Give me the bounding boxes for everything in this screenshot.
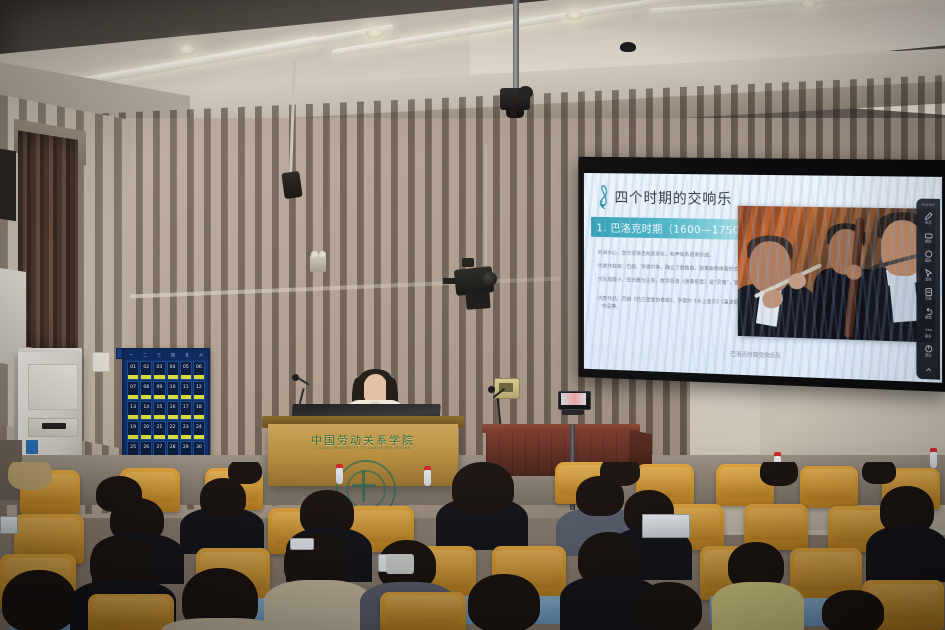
pocket-chart-cell: 18 xyxy=(193,401,205,420)
pocket-chart-number: 28 xyxy=(170,445,176,450)
pocket-chart-pocket-lip xyxy=(141,395,151,399)
pocket-chart-pocket-lip xyxy=(128,435,138,439)
slide-bullet: · 时间中心，音乐逐渐走向复杂化，和声体系逐渐形成。 xyxy=(595,249,714,258)
ceiling-downlight xyxy=(566,10,583,20)
pocket-chart-cell: 19 xyxy=(127,421,139,440)
air-conditioner-panel xyxy=(28,364,78,410)
ceiling-downlight xyxy=(366,28,383,38)
pocket-chart-number: 07 xyxy=(130,385,136,390)
toolbar-label: 页面 xyxy=(925,296,932,300)
pocket-chart-cell: 17 xyxy=(180,401,192,420)
page-icon[interactable]: 页面 xyxy=(917,285,939,304)
pocket-chart-pocket-lip xyxy=(168,435,178,439)
pocket-chart-number: 04 xyxy=(170,365,176,370)
photo-caption: 巴洛克时期交响乐队 xyxy=(730,349,781,360)
pocket-chart-number: 05 xyxy=(183,365,189,370)
pocket-chart-pocket-lip xyxy=(141,435,151,439)
pocket-chart-cell: 03 xyxy=(153,361,165,380)
pocket-chart-cell: 24 xyxy=(193,421,205,440)
toolbar-label: 选择 xyxy=(925,277,932,281)
slide-title: 四个时期的交响乐 xyxy=(615,187,733,209)
pocket-chart-number: 26 xyxy=(143,445,149,450)
pocket-chart-number: 10 xyxy=(170,385,176,390)
pocket-chart-cell: 09 xyxy=(153,381,165,400)
toolbar-label: 撤销 xyxy=(925,315,932,319)
pocket-chart-number: 01 xyxy=(130,365,136,370)
pocket-chart-pocket-lip xyxy=(128,375,138,379)
pocket-chart-pocket-lip xyxy=(154,435,164,439)
more-icon[interactable]: 更多 xyxy=(917,323,939,342)
auditorium-chair[interactable] xyxy=(800,466,858,508)
pocket-chart-cell: 23 xyxy=(180,421,192,440)
pocket-chart-cell: 20 xyxy=(140,421,152,440)
pocket-chart-cell: 15 xyxy=(153,401,165,420)
toolbar-label: 更多 xyxy=(925,334,932,338)
toolbar-label: 擦除 xyxy=(925,239,932,243)
pocket-chart-number: 24 xyxy=(196,425,202,430)
pocket-chart-number: 25 xyxy=(130,445,136,450)
pocket-chart-number: 23 xyxy=(183,425,189,430)
audience-laptop[interactable] xyxy=(0,516,18,534)
audience-head xyxy=(2,570,76,630)
orchestra-photo xyxy=(738,206,935,343)
pocket-chart-header-cell: 四 xyxy=(171,353,175,358)
slide-section-label: 1. 巴洛克时期（1600—1750） xyxy=(596,220,750,238)
collapse-icon[interactable] xyxy=(917,361,939,380)
pocket-chart-pocket-lip xyxy=(128,415,138,419)
wall-dark-panel xyxy=(0,149,16,222)
pocket-chart-pocket-lip xyxy=(154,415,164,419)
audience-shoulders xyxy=(866,526,945,582)
audience-laptop[interactable] xyxy=(642,514,690,538)
slide-bullet-continued: 作品等。 xyxy=(602,303,621,310)
hanging-microphone-icon xyxy=(281,171,302,199)
whiteboard-toolbar[interactable]: seewo 批注 擦除 图形 选择 xyxy=(916,199,940,380)
audience-shoulders xyxy=(712,582,804,630)
audience-phone[interactable] xyxy=(290,538,314,550)
pocket-chart-number: 14 xyxy=(143,405,149,410)
audience-shoulders xyxy=(162,618,280,630)
pocket-chart-cell: 07 xyxy=(127,381,139,400)
slide-bullet: · 代表作曲家：巴赫、亨德尔等，确立了赋格曲、协奏曲等体裁形式。 xyxy=(595,263,744,273)
pocket-chart-pocket-lip xyxy=(141,375,151,379)
pocket-chart-cell: 04 xyxy=(167,361,179,380)
audience-jacket xyxy=(386,554,414,574)
pocket-chart-number: 03 xyxy=(156,365,162,370)
pocket-chart-number: 16 xyxy=(170,405,176,410)
pocket-chart-number: 29 xyxy=(183,445,189,450)
pocket-chart-cell: 02 xyxy=(140,361,152,380)
audience-head xyxy=(760,462,798,486)
pocket-chart-number: 06 xyxy=(196,365,202,370)
emergency-light-lamp xyxy=(311,251,318,257)
power-icon[interactable]: 退出 xyxy=(917,342,939,361)
pocket-chart-pocket-lip xyxy=(181,435,191,439)
pocket-chart-number: 09 xyxy=(156,385,162,390)
camera-top-handle xyxy=(462,258,474,267)
pocket-chart-pocket-lip xyxy=(168,395,178,399)
camera-body-lower xyxy=(465,291,490,310)
emergency-light-icon xyxy=(310,255,326,272)
pocket-chart-pocket-lip xyxy=(154,375,164,379)
audience-shoulders xyxy=(264,580,372,630)
audience-seating xyxy=(0,462,945,630)
undo-icon[interactable]: 撤销 xyxy=(917,304,939,323)
pocket-chart-number: 19 xyxy=(130,425,136,430)
treble-clef-icon xyxy=(596,181,612,210)
pocket-chart-number: 02 xyxy=(143,365,149,370)
pocket-chart-cell: 12 xyxy=(193,381,205,400)
audience-head xyxy=(576,476,624,516)
toolbar-label: 退出 xyxy=(925,353,932,357)
auditorium-chair[interactable] xyxy=(380,592,466,630)
pocket-chart-header-cell: 三 xyxy=(157,353,161,358)
pocket-chart-cell: 13 xyxy=(127,401,139,420)
pocket-chart-cell: 21 xyxy=(153,421,165,440)
pocket-chart-header-cell: 一 xyxy=(129,353,133,358)
emergency-light-lamp xyxy=(319,251,326,257)
pocket-chart-cell: 01 xyxy=(127,361,139,380)
pocket-chart-pocket-lip xyxy=(181,375,191,379)
pocket-chart-header-cell: 二 xyxy=(143,353,147,358)
pocket-chart-pocket-lip xyxy=(128,395,138,399)
pocket-chart-header: 一二三四五六 xyxy=(124,350,208,360)
led-display[interactable]: 四个时期的交响乐 1. 巴洛克时期（1600—1750） · 时间中心，音乐逐渐… xyxy=(579,157,945,392)
pocket-chart-cell: 10 xyxy=(167,381,179,400)
pocket-chart-number: 27 xyxy=(156,445,162,450)
pocket-chart-cell: 11 xyxy=(180,381,192,400)
pocket-chart-number: 22 xyxy=(170,425,176,430)
wall-outlet-plate xyxy=(92,352,110,372)
audience-head xyxy=(862,462,896,484)
presentation-slide[interactable]: 四个时期的交响乐 1. 巴洛克时期（1600—1750） · 时间中心，音乐逐渐… xyxy=(584,173,942,383)
ceiling-sensor-icon xyxy=(518,86,533,99)
pocket-chart-number: 08 xyxy=(143,385,149,390)
pocket-chart-cell: 08 xyxy=(140,381,152,400)
pocket-chart-cell: 16 xyxy=(167,401,179,420)
musician-hand xyxy=(846,265,861,280)
audience-head xyxy=(822,590,884,630)
hanging-cable xyxy=(485,145,487,265)
pocket-chart-cell: 05 xyxy=(180,361,192,380)
toolbar-label: 图形 xyxy=(925,258,932,262)
pocket-chart-pocket-lip xyxy=(194,435,204,439)
eraser-icon[interactable]: 擦除 xyxy=(917,228,939,246)
audience-head xyxy=(636,582,702,630)
pocket-chart-number: 13 xyxy=(130,405,136,410)
podium-university-subtitle: CHINA UNIVERSITY OF LABOR RELATIONS xyxy=(268,446,458,450)
pocket-chart-number: 15 xyxy=(156,405,162,410)
pocket-chart-pocket-lip xyxy=(181,415,191,419)
pocket-chart-number: 20 xyxy=(143,425,149,430)
pocket-chart-pocket-lip xyxy=(194,395,204,399)
air-conditioner-label xyxy=(26,440,38,454)
pocket-chart-cell: 22 xyxy=(167,421,179,440)
musician-shirt xyxy=(888,271,918,323)
table-microphone-icon xyxy=(488,386,495,393)
pocket-chart-number: 18 xyxy=(196,405,202,410)
select-icon[interactable]: 选择 xyxy=(917,266,939,285)
podium-microphone-icon xyxy=(292,374,299,381)
pocket-chart-pocket-lip xyxy=(194,415,204,419)
toolbar-brand: seewo xyxy=(922,202,935,207)
pocket-chart-number: 30 xyxy=(196,445,202,450)
toolbar-label: 批注 xyxy=(925,220,932,224)
pocket-chart-pocket-lip xyxy=(141,415,151,419)
pocket-chart-cell: 14 xyxy=(140,401,152,420)
camera-lens-icon xyxy=(483,272,497,286)
air-conditioner-display xyxy=(42,423,66,429)
audience-head xyxy=(200,478,246,518)
pocket-chart-number: 17 xyxy=(183,405,189,410)
lecture-hall-photo: 四个时期的交响乐 1. 巴洛克时期（1600—1750） · 时间中心，音乐逐渐… xyxy=(0,0,945,630)
pocket-chart-cell: 06 xyxy=(193,361,205,380)
pocket-chart-number: 21 xyxy=(156,425,162,430)
pocket-chart-pocket-lip xyxy=(168,415,178,419)
pocket-chart-pocket-lip xyxy=(181,395,191,399)
pocket-chart-header-cell: 六 xyxy=(199,353,203,358)
ceiling-downlight xyxy=(178,45,195,55)
window-curtain xyxy=(18,130,78,355)
pocket-chart-header-cell: 五 xyxy=(185,353,189,358)
musician-head xyxy=(749,241,791,293)
phone-screen xyxy=(561,393,586,405)
pocket-chart-number: 12 xyxy=(196,385,202,390)
pen-icon[interactable]: 批注 xyxy=(917,209,939,227)
audience-head xyxy=(468,574,540,630)
audience-head xyxy=(8,462,52,490)
audience-head xyxy=(452,462,514,514)
ceiling-speaker-icon xyxy=(620,42,636,52)
pocket-chart-number: 11 xyxy=(183,385,189,390)
pocket-chart-pocket-lip xyxy=(154,395,164,399)
shape-icon[interactable]: 图形 xyxy=(917,247,939,266)
auditorium-chair[interactable] xyxy=(88,594,174,630)
projector-mount-pole xyxy=(513,0,519,95)
pocket-chart-pocket-lip xyxy=(168,375,178,379)
pocket-chart-pocket-lip xyxy=(194,375,204,379)
